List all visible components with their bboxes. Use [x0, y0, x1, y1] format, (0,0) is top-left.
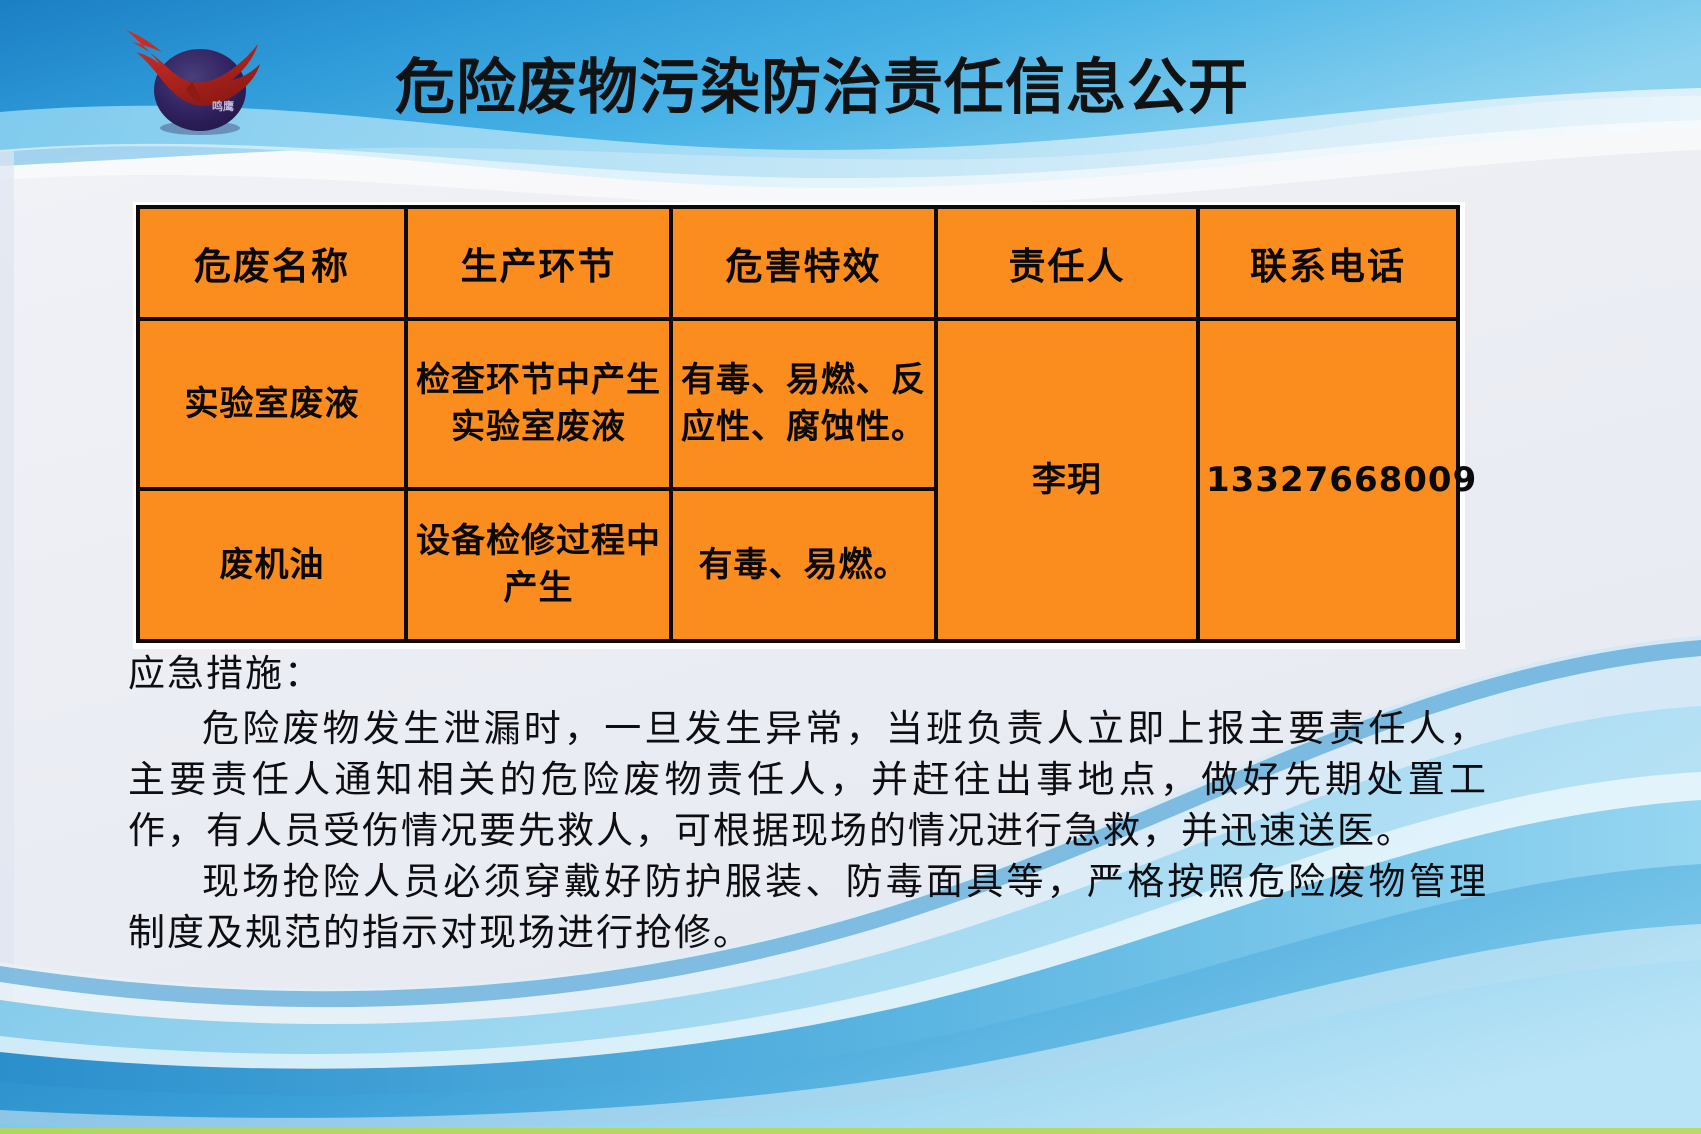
column-header-production-stage: 生产环节 — [406, 207, 671, 319]
cell-stage-1: 检查环节中产生实验室废液 — [406, 319, 671, 489]
table-header-row: 危废名称 生产环节 危害特效 责任人 联系电话 — [138, 207, 1458, 319]
cell-waste-name-1: 实验室废液 — [138, 319, 406, 489]
emergency-measures-section: 应急措施： 危险废物发生泄漏时，一旦发生异常，当班负责人立即上报主要责任人，主要… — [128, 648, 1488, 959]
cell-contact-phone: 13327668009 — [1198, 319, 1458, 641]
waste-table-container: 危废名称 生产环节 危害特效 责任人 联系电话 实验室废液 检查环节中产生实验室… — [133, 202, 1465, 649]
column-header-waste-name: 危废名称 — [138, 207, 406, 319]
eagle-logo: 鸣鹰 — [108, 18, 283, 138]
emergency-measures-heading: 应急措施： — [128, 648, 1488, 702]
cell-hazard-2: 有毒、易燃。 — [671, 489, 936, 641]
cell-hazard-1: 有毒、易燃、反应性、腐蚀性。 — [671, 319, 936, 489]
cell-waste-name-2: 废机油 — [138, 489, 406, 641]
column-header-hazard-trait: 危害特效 — [671, 207, 936, 319]
column-header-responsible-person: 责任人 — [936, 207, 1198, 319]
cell-stage-2: 设备检修过程中产生 — [406, 489, 671, 641]
table-row: 实验室废液 检查环节中产生实验室废液 有毒、易燃、反应性、腐蚀性。 李玥 133… — [138, 319, 1458, 489]
page-title: 危险废物污染防治责任信息公开 — [395, 54, 1295, 122]
column-header-contact-phone: 联系电话 — [1198, 207, 1458, 319]
slide-canvas: 鸣鹰 危险废物污染防治责任信息公开 危废名称 生产环节 危害特效 责任人 联系电… — [0, 0, 1701, 1134]
hazardous-waste-table: 危废名称 生产环节 危害特效 责任人 联系电话 实验室废液 检查环节中产生实验室… — [136, 205, 1460, 643]
emergency-measures-paragraph-2: 现场抢险人员必须穿戴好防护服装、防毒面具等，严格按照危险废物管理制度及规范的指示… — [128, 857, 1488, 959]
emergency-measures-paragraph-1: 危险废物发生泄漏时，一旦发生异常，当班负责人立即上报主要责任人，主要责任人通知相… — [128, 704, 1488, 857]
cell-responsible-person: 李玥 — [936, 319, 1198, 641]
svg-text:鸣鹰: 鸣鹰 — [212, 99, 234, 113]
